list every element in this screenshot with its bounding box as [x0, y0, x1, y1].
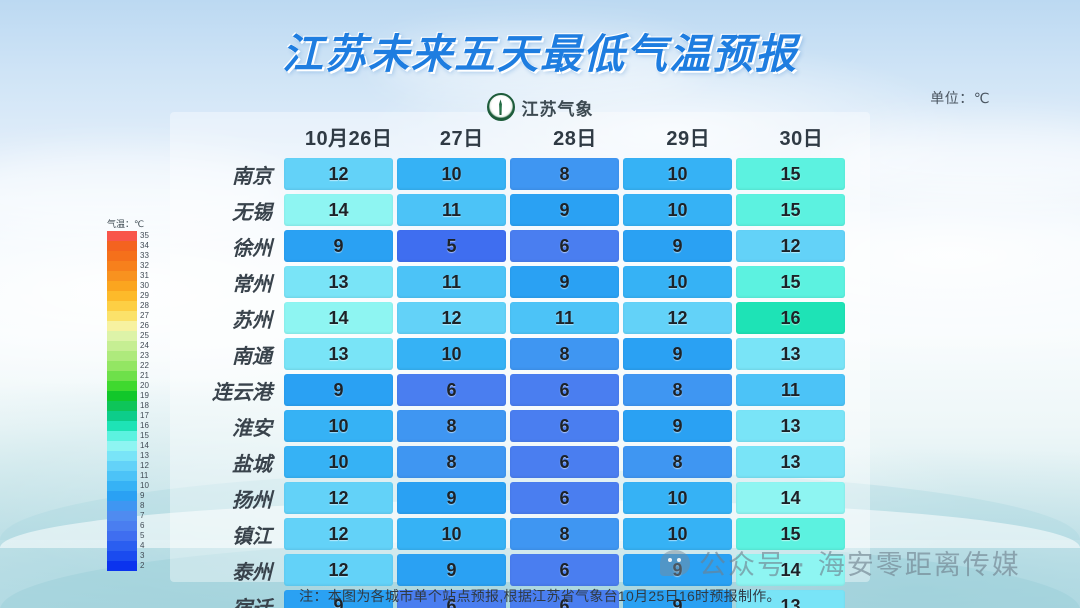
temperature-cell: 6	[510, 230, 619, 262]
table-row: 常州131191015	[190, 266, 845, 298]
temperature-cell: 12	[284, 554, 393, 586]
table-row: 南京121081015	[190, 158, 845, 190]
legend-swatch	[107, 541, 137, 551]
legend-row: 35	[107, 231, 163, 241]
temperature-cells: 1086913	[284, 410, 845, 442]
temperature-cell: 15	[736, 518, 845, 550]
temperature-cell: 9	[510, 194, 619, 226]
legend-value: 9	[140, 491, 144, 501]
temperature-cell: 9	[623, 338, 732, 370]
legend-row: 29	[107, 291, 163, 301]
temperature-cell: 10	[284, 410, 393, 442]
temperature-cell: 8	[510, 158, 619, 190]
legend-row: 10	[107, 481, 163, 491]
legend-row: 7	[107, 511, 163, 521]
legend-value: 11	[140, 471, 148, 481]
legend-row: 20	[107, 381, 163, 391]
legend-swatch	[107, 461, 137, 471]
legend-swatch	[107, 521, 137, 531]
legend-row: 21	[107, 371, 163, 381]
legend-value: 2	[140, 561, 144, 571]
header: 江苏未来五天最低气温预报 江苏气象	[0, 0, 1080, 122]
jiangsu-meteorology-emblem-icon	[487, 93, 515, 121]
temperature-color-legend: 气温：℃ 35343332313029282726252423222120191…	[107, 217, 163, 571]
column-header-4: 30日	[745, 122, 858, 151]
temperature-cell: 12	[736, 230, 845, 262]
legend-value: 7	[140, 511, 144, 521]
table-row: 淮安1086913	[190, 410, 845, 442]
temperature-cell: 6	[510, 482, 619, 514]
legend-row: 13	[107, 451, 163, 461]
city-label: 无锡	[190, 196, 284, 225]
legend-row: 25	[107, 331, 163, 341]
temperature-cells: 1086813	[284, 446, 845, 478]
legend-scale: 3534333231302928272625242322212019181716…	[107, 231, 163, 571]
legend-row: 31	[107, 271, 163, 281]
legend-value: 33	[140, 251, 149, 261]
legend-value: 22	[140, 361, 149, 371]
legend-swatch	[107, 331, 137, 341]
temperature-cell: 12	[284, 482, 393, 514]
temperature-cell: 10	[623, 266, 732, 298]
legend-swatch	[107, 371, 137, 381]
legend-swatch	[107, 281, 137, 291]
legend-row: 6	[107, 521, 163, 531]
city-label: 常州	[190, 268, 284, 297]
temperature-cell: 8	[623, 446, 732, 478]
legend-row: 8	[107, 501, 163, 511]
temperature-cell: 11	[736, 374, 845, 406]
legend-value: 32	[140, 261, 149, 271]
legend-swatch	[107, 361, 137, 371]
table-row: 扬州12961014	[190, 482, 845, 514]
temperature-cell: 10	[623, 158, 732, 190]
temperature-cell: 10	[397, 338, 506, 370]
temperature-cell: 6	[510, 446, 619, 478]
temperature-cell: 6	[510, 410, 619, 442]
legend-swatch	[107, 551, 137, 561]
legend-value: 17	[140, 411, 149, 421]
legend-row: 23	[107, 351, 163, 361]
legend-row: 12	[107, 461, 163, 471]
legend-value: 26	[140, 321, 149, 331]
temperature-cell: 8	[510, 518, 619, 550]
legend-swatch	[107, 381, 137, 391]
temperature-cell: 12	[397, 302, 506, 334]
temperature-cell: 10	[623, 518, 732, 550]
temperature-cells: 13108913	[284, 338, 845, 370]
legend-value: 16	[140, 421, 149, 431]
legend-swatch	[107, 271, 137, 281]
table-row: 盐城1086813	[190, 446, 845, 478]
legend-value: 30	[140, 281, 149, 291]
temperature-cells: 12961014	[284, 482, 845, 514]
legend-value: 10	[140, 481, 149, 491]
temperature-cells: 1296914	[284, 554, 845, 586]
temperature-cell: 13	[736, 338, 845, 370]
temperature-cell: 13	[736, 410, 845, 442]
temperature-cell: 9	[284, 230, 393, 262]
temperature-cell: 10	[623, 482, 732, 514]
temperature-cell: 9	[284, 374, 393, 406]
legend-swatch	[107, 231, 137, 241]
temperature-cells: 131191015	[284, 266, 845, 298]
temperature-cell: 11	[397, 194, 506, 226]
legend-value: 5	[140, 531, 144, 541]
temperature-cell: 10	[397, 158, 506, 190]
legend-row: 33	[107, 251, 163, 261]
city-label: 连云港	[190, 376, 284, 405]
legend-swatch	[107, 531, 137, 541]
legend-swatch	[107, 351, 137, 361]
temperature-cells: 956912	[284, 230, 845, 262]
legend-row: 30	[107, 281, 163, 291]
legend-swatch	[107, 481, 137, 491]
temperature-cell: 14	[284, 194, 393, 226]
brand-logo: 江苏气象	[0, 92, 1080, 122]
temperature-cells: 1412111216	[284, 302, 845, 334]
legend-swatch	[107, 451, 137, 461]
legend-row: 15	[107, 431, 163, 441]
legend-value: 18	[140, 401, 149, 411]
legend-row: 34	[107, 241, 163, 251]
legend-value: 14	[140, 441, 149, 451]
legend-row: 16	[107, 421, 163, 431]
legend-swatch	[107, 391, 137, 401]
legend-swatch	[107, 411, 137, 421]
legend-row: 2	[107, 561, 163, 571]
temperature-cell: 8	[397, 410, 506, 442]
temperature-cells: 966811	[284, 374, 845, 406]
temperature-cell: 9	[510, 266, 619, 298]
city-label: 镇江	[190, 520, 284, 549]
temperature-cell: 13	[736, 446, 845, 478]
legend-row: 4	[107, 541, 163, 551]
city-label: 徐州	[190, 232, 284, 261]
city-label: 南通	[190, 340, 284, 369]
legend-value: 8	[140, 501, 144, 511]
legend-swatch	[107, 441, 137, 451]
legend-swatch	[107, 341, 137, 351]
column-header-0: 10月26日	[292, 122, 405, 151]
legend-row: 14	[107, 441, 163, 451]
temperature-cell: 9	[397, 482, 506, 514]
legend-swatch	[107, 251, 137, 261]
legend-value: 6	[140, 521, 144, 531]
legend-value: 19	[140, 391, 149, 401]
legend-value: 3	[140, 551, 144, 561]
legend-swatch	[107, 491, 137, 501]
table-row: 无锡141191015	[190, 194, 845, 226]
column-header-2: 28日	[518, 122, 631, 151]
legend-row: 11	[107, 471, 163, 481]
temperature-cell: 15	[736, 266, 845, 298]
legend-swatch	[107, 311, 137, 321]
legend-row: 26	[107, 321, 163, 331]
temperature-cell: 10	[284, 446, 393, 478]
table-row: 连云港966811	[190, 374, 845, 406]
legend-swatch	[107, 241, 137, 251]
legend-swatch	[107, 261, 137, 271]
legend-swatch	[107, 301, 137, 311]
table-row: 苏州1412111216	[190, 302, 845, 334]
city-label: 盐城	[190, 448, 284, 477]
temperature-cell: 14	[736, 554, 845, 586]
temperature-cells: 141191015	[284, 194, 845, 226]
temperature-cell: 12	[623, 302, 732, 334]
legend-value: 23	[140, 351, 149, 361]
temperature-cell: 13	[284, 266, 393, 298]
legend-row: 18	[107, 401, 163, 411]
temperature-cell: 15	[736, 194, 845, 226]
table-row: 镇江121081015	[190, 518, 845, 550]
temperature-cell: 8	[510, 338, 619, 370]
legend-swatch	[107, 291, 137, 301]
table-row: 南通13108913	[190, 338, 845, 370]
temperature-cell: 8	[623, 374, 732, 406]
temperature-cell: 6	[510, 554, 619, 586]
legend-row: 9	[107, 491, 163, 501]
table-row: 徐州956912	[190, 230, 845, 262]
legend-value: 21	[140, 371, 149, 381]
legend-value: 4	[140, 541, 144, 551]
legend-value: 29	[140, 291, 149, 301]
forecast-infographic: 江苏未来五天最低气温预报 江苏气象 单位：℃ 气温：℃ 353433323130…	[0, 0, 1080, 608]
city-label: 淮安	[190, 412, 284, 441]
temperature-cell: 9	[623, 230, 732, 262]
legend-value: 28	[140, 301, 149, 311]
city-label: 苏州	[190, 304, 284, 333]
unit-label: 单位：℃	[930, 88, 990, 108]
legend-value: 31	[140, 271, 149, 281]
legend-swatch	[107, 501, 137, 511]
temperature-cell: 14	[736, 482, 845, 514]
temperature-cell: 10	[623, 194, 732, 226]
legend-swatch	[107, 431, 137, 441]
legend-row: 28	[107, 301, 163, 311]
temperature-cell: 12	[284, 158, 393, 190]
temperature-cell: 12	[284, 518, 393, 550]
legend-value: 35	[140, 231, 149, 241]
legend-value: 12	[140, 461, 149, 471]
legend-value: 34	[140, 241, 149, 251]
city-label: 扬州	[190, 484, 284, 513]
temperature-cell: 9	[397, 554, 506, 586]
page-title: 江苏未来五天最低气温预报	[0, 20, 1080, 80]
legend-value: 15	[140, 431, 149, 441]
legend-row: 5	[107, 531, 163, 541]
city-label: 南京	[190, 160, 284, 189]
temperature-cell: 9	[623, 410, 732, 442]
temperature-cell: 9	[623, 554, 732, 586]
temperature-cell: 6	[510, 374, 619, 406]
legend-row: 17	[107, 411, 163, 421]
temperature-cell: 11	[510, 302, 619, 334]
legend-swatch	[107, 471, 137, 481]
temperature-cells: 121081015	[284, 518, 845, 550]
legend-row: 19	[107, 391, 163, 401]
temperature-cell: 13	[284, 338, 393, 370]
legend-swatch	[107, 321, 137, 331]
legend-title: 气温：℃	[107, 217, 163, 230]
temperature-cell: 8	[397, 446, 506, 478]
temperature-cell: 15	[736, 158, 845, 190]
temperature-cells: 121081015	[284, 158, 845, 190]
footnote: 注：本图为各城市单个站点预报,根据江苏省气象台10月25日16时预报制作。	[0, 586, 1080, 606]
column-header-row: 10月26日27日28日29日30日	[292, 122, 858, 151]
temperature-cell: 14	[284, 302, 393, 334]
temperature-cell: 5	[397, 230, 506, 262]
legend-swatch	[107, 561, 137, 571]
legend-row: 27	[107, 311, 163, 321]
temperature-cell: 11	[397, 266, 506, 298]
legend-swatch	[107, 511, 137, 521]
legend-row: 22	[107, 361, 163, 371]
legend-value: 24	[140, 341, 149, 351]
column-header-3: 29日	[632, 122, 745, 151]
legend-row: 24	[107, 341, 163, 351]
legend-value: 20	[140, 381, 149, 391]
temperature-cell: 10	[397, 518, 506, 550]
brand-label: 江苏气象	[522, 95, 594, 120]
temperature-cell: 6	[397, 374, 506, 406]
legend-value: 27	[140, 311, 149, 321]
column-header-1: 27日	[405, 122, 518, 151]
table-row: 泰州1296914	[190, 554, 845, 586]
forecast-grid: 南京121081015无锡141191015徐州956912常州13119101…	[190, 158, 845, 608]
legend-value: 13	[140, 451, 149, 461]
legend-value: 25	[140, 331, 149, 341]
legend-row: 32	[107, 261, 163, 271]
city-label: 泰州	[190, 556, 284, 585]
legend-swatch	[107, 401, 137, 411]
legend-swatch	[107, 421, 137, 431]
legend-row: 3	[107, 551, 163, 561]
temperature-cell: 16	[736, 302, 845, 334]
